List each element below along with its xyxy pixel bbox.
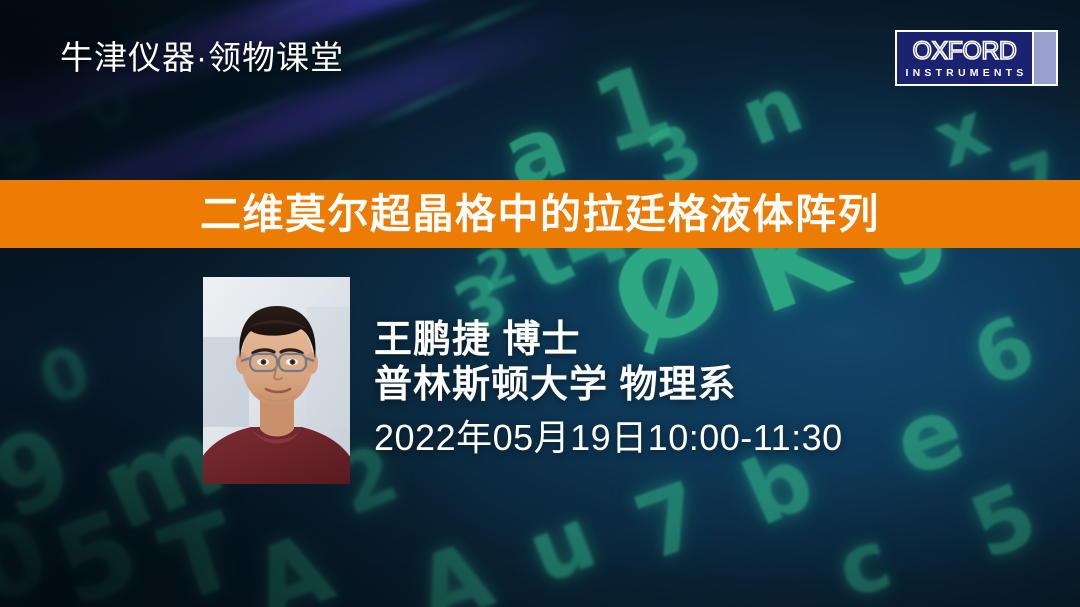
logo-instruments-text: INSTRUMENTS	[901, 68, 1027, 79]
background-vignette-corners	[0, 0, 1080, 607]
speaker-photo	[203, 277, 350, 484]
lecture-title: 二维莫尔超晶格中的拉廷格液体阵列	[200, 194, 880, 235]
speaker-headshot-image	[203, 277, 350, 484]
logo-wordmark-box: OXFORD INSTRUMENTS	[897, 32, 1032, 84]
logo-accent-bar	[1032, 32, 1056, 84]
webinar-poster: ØK94t23a31nm95T0AAu7be5c6x72090 牛津仪器·领物课…	[0, 0, 1080, 607]
event-datetime: 2022年05月19日10:00-11:30	[374, 418, 843, 458]
header-brand-text: 牛津仪器·领物课堂	[60, 41, 344, 74]
speaker-name: 王鹏捷 博士	[374, 318, 843, 363]
speaker-info: 王鹏捷 博士 普林斯顿大学 物理系 2022年05月19日10:00-11:30	[374, 318, 843, 457]
speaker-affiliation: 普林斯顿大学 物理系	[374, 363, 843, 408]
title-band: 二维莫尔超晶格中的拉廷格液体阵列	[0, 180, 1080, 248]
logo-oxford-text: OXFORD	[913, 39, 1017, 64]
oxford-instruments-logo[interactable]: OXFORD INSTRUMENTS	[895, 30, 1058, 86]
